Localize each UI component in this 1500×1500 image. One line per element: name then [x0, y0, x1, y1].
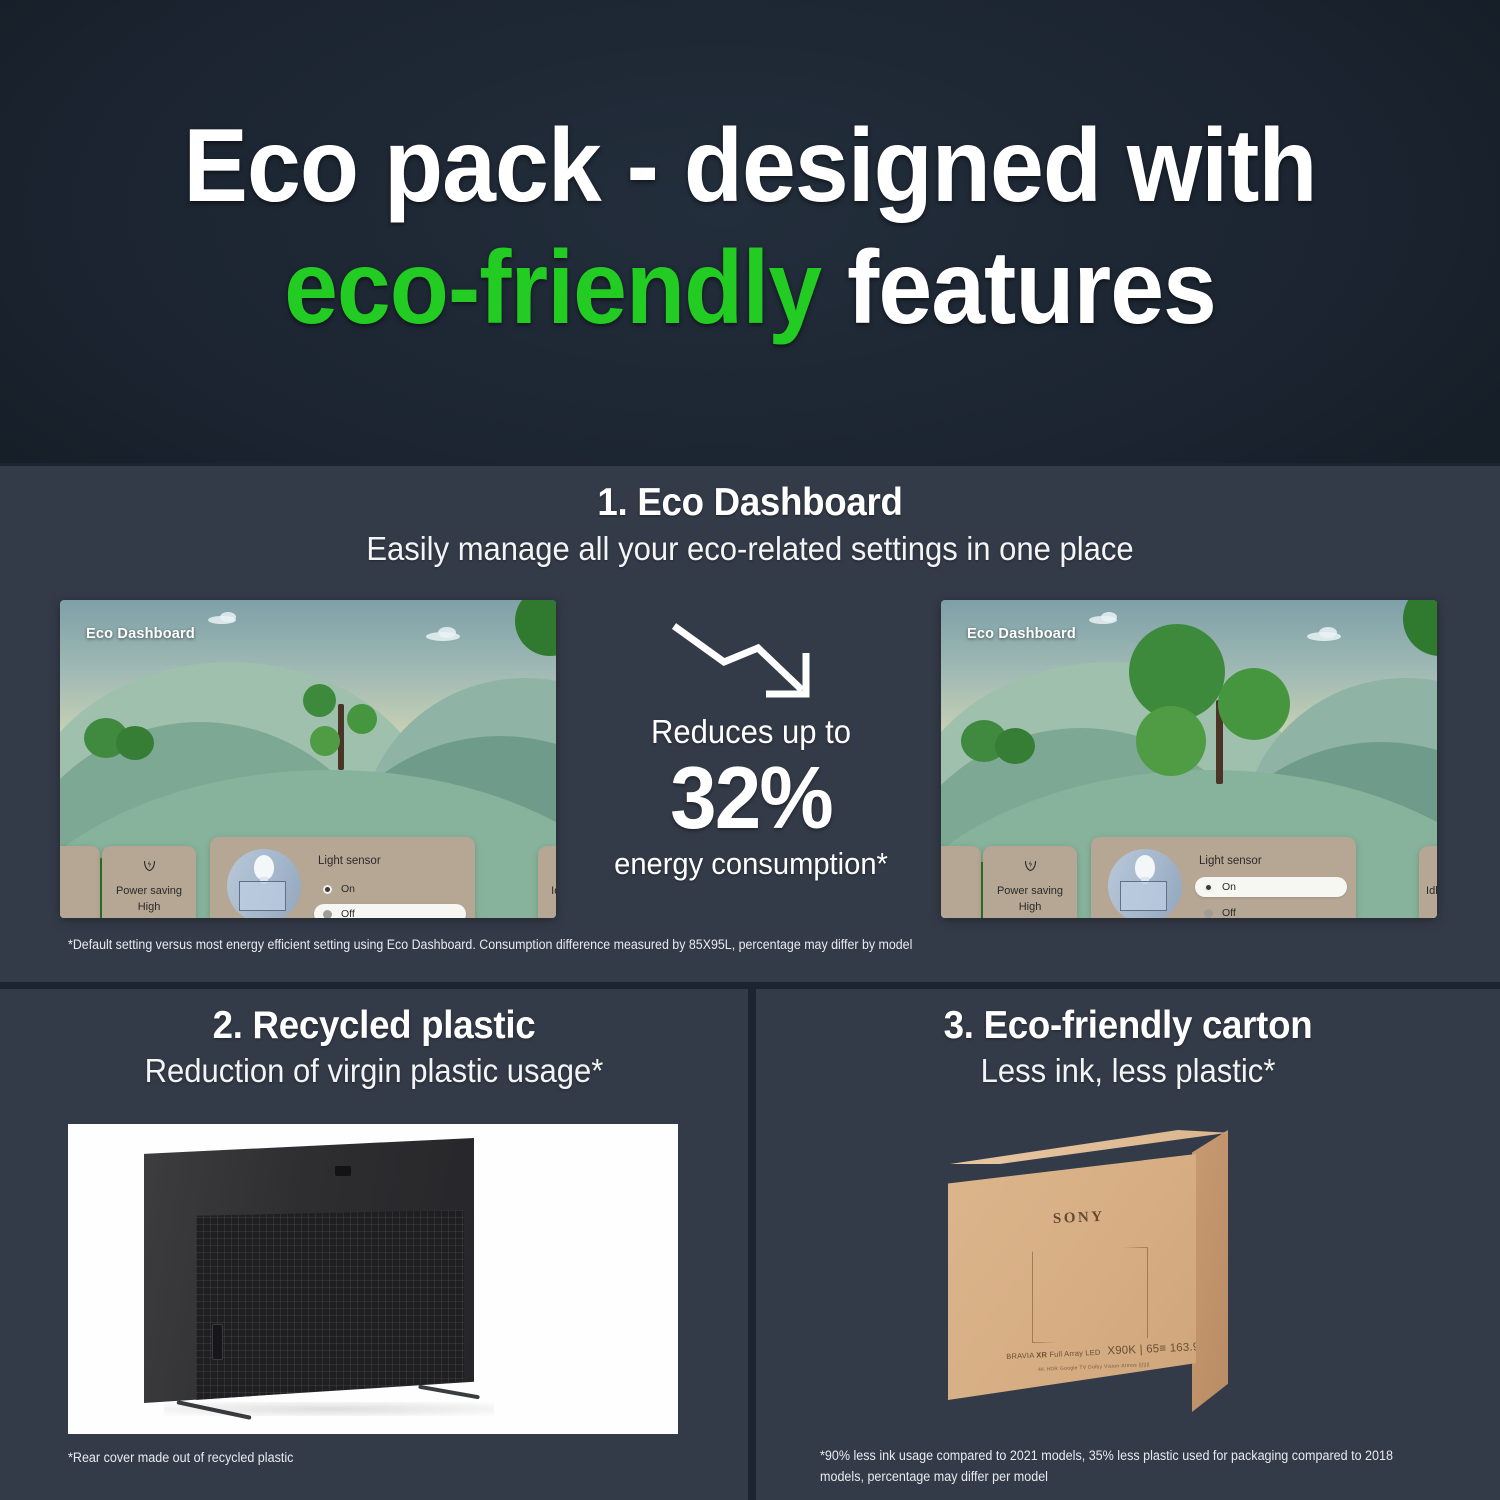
eco-dashboard-label: Eco Dashboard	[967, 626, 1076, 642]
tree-foliage	[1136, 706, 1206, 776]
eco-carton-box-photo: SONY BRAVIA XR Full Array LED X90K | 65≡…	[930, 1128, 1270, 1428]
radio-dot-icon	[323, 885, 332, 894]
power-saving-label: Power saving	[997, 884, 1063, 899]
leaf-bolt-icon	[1023, 858, 1038, 878]
setting-card-partial[interactable]	[60, 846, 100, 918]
tv-stand-leg-right	[418, 1385, 480, 1400]
cloud-icon	[1319, 627, 1337, 638]
tv-rect-shape	[1120, 881, 1167, 911]
page-title: Eco pack - designed with eco-friendly fe…	[53, 105, 1448, 349]
section3-heading: 3. Eco-friendly carton	[778, 1003, 1477, 1049]
box-fineprint: 4K HDR Google TV Dolby Vision·Atmos ||||…	[1038, 1362, 1150, 1373]
stat-value: 32%	[591, 752, 910, 844]
sony-brand-logo: SONY	[1053, 1209, 1105, 1228]
tv-drop-shadow	[164, 1402, 494, 1416]
light-bulb-sensor-icon	[227, 849, 301, 918]
option-label: On	[1222, 881, 1236, 893]
stat-bottom-label: energy consumption*	[593, 844, 909, 884]
section2-heading: 2. Recycled plastic	[22, 1003, 725, 1049]
cloud-icon	[220, 612, 236, 622]
energy-reduction-stat: Reduces up to 32% energy consumption*	[583, 620, 919, 884]
light-sensor-panel[interactable]: Light sensor On Off	[210, 837, 475, 918]
tv-rear-grid-texture	[196, 1210, 464, 1400]
power-saving-label: Power saving	[116, 884, 182, 899]
light-sensor-option-on[interactable]: On	[314, 879, 466, 899]
tv-rear-logo-badge	[335, 1166, 351, 1176]
spec-mid: Full Array LED	[1047, 1348, 1101, 1359]
hero-line-2-rest: features	[821, 230, 1216, 346]
idle-power-label: Idle TV power of	[1426, 884, 1437, 899]
light-sensor-label: Light sensor	[318, 855, 381, 867]
hero-banner: Eco pack - designed with eco-friendly fe…	[0, 0, 1500, 463]
light-sensor-panel[interactable]: Light sensor On Off	[1091, 837, 1356, 918]
light-sensor-option-off[interactable]: Off	[1195, 903, 1347, 918]
section3-subheading: Less ink, less plastic*	[778, 1050, 1477, 1092]
tv-rear-cover-photo	[68, 1124, 678, 1434]
idle-power-label: Idle TV power	[551, 884, 556, 899]
option-label: Off	[341, 908, 355, 918]
box-recycle-badge-icon	[1220, 1406, 1232, 1418]
hero-accent-text: eco-friendly	[284, 230, 821, 346]
tv-rect-shape	[239, 881, 286, 911]
bush-shape	[116, 726, 154, 760]
box-spec-print: BRAVIA XR Full Array LED X90K | 65≡ 163.…	[1006, 1340, 1219, 1362]
setting-card-power-saving[interactable]: Power saving High	[983, 846, 1077, 918]
spec-model: X90K	[1107, 1344, 1136, 1357]
light-bulb-sensor-icon	[1108, 849, 1182, 918]
bush-shape	[995, 728, 1035, 764]
tree-foliage	[310, 726, 340, 756]
spec-prefix: BRAVIA	[1006, 1351, 1036, 1361]
section3-footnote: *90% less ink usage compared to 2021 mod…	[820, 1445, 1434, 1487]
cloud-icon	[438, 627, 456, 638]
power-saving-value: High	[1019, 899, 1042, 916]
option-label: Off	[1222, 907, 1236, 918]
light-sensor-option-off[interactable]: Off	[314, 904, 466, 918]
section1-subheading: Easily manage all your eco-related setti…	[45, 528, 1455, 570]
setting-card-idle-power[interactable]: Idle TV power 2 hours	[538, 846, 556, 918]
section2-subheading: Reduction of virgin plastic usage*	[22, 1050, 725, 1092]
setting-card-partial[interactable]	[941, 846, 981, 918]
spec-size: 65	[1146, 1343, 1160, 1356]
hero-line-2: eco-friendly features	[53, 227, 1448, 349]
tv-rear-port	[212, 1324, 223, 1360]
setting-card-power-saving[interactable]: Power saving High	[102, 846, 196, 918]
section1-heading: 1. Eco Dashboard	[45, 480, 1455, 526]
box-front-panel: SONY BRAVIA XR Full Array LED X90K | 65≡…	[948, 1154, 1196, 1400]
light-sensor-option-on[interactable]: On	[1195, 877, 1347, 897]
eco-pack-infographic: Eco pack - designed with eco-friendly fe…	[0, 0, 1500, 1500]
light-sensor-label: Light sensor	[1199, 855, 1262, 867]
tree-foliage	[303, 684, 336, 717]
box-side-panel	[1192, 1130, 1228, 1412]
section1-footnote: *Default setting versus most energy effi…	[68, 936, 1319, 954]
section2-footnote: *Rear cover made out of recycled plastic	[68, 1447, 663, 1468]
radio-dot-icon	[1204, 883, 1213, 892]
tv-screenshot-default: Eco Dashboard Power saving High Light se…	[60, 600, 556, 918]
eco-dashboard-label: Eco Dashboard	[86, 626, 195, 642]
radio-dot-icon	[1204, 909, 1213, 918]
power-saving-value: High	[138, 899, 161, 916]
box-tv-outline-print	[1032, 1247, 1148, 1343]
option-label: On	[341, 883, 355, 895]
hero-line-1: Eco pack - designed with	[183, 108, 1316, 224]
spec-xr: XR	[1036, 1350, 1047, 1359]
cloud-icon	[1101, 612, 1117, 622]
leaf-bolt-icon	[142, 858, 157, 878]
radio-dot-icon	[323, 910, 332, 919]
tv-screenshot-eco-optimized: Eco Dashboard Power saving High Light se…	[941, 600, 1437, 918]
stat-top-label: Reduces up to	[593, 712, 909, 752]
setting-card-idle-power[interactable]: Idle TV power of 2 hours	[1419, 846, 1437, 918]
tree-foliage	[1218, 668, 1290, 740]
tree-foliage	[347, 704, 377, 734]
trend-down-arrow-icon	[583, 620, 919, 712]
